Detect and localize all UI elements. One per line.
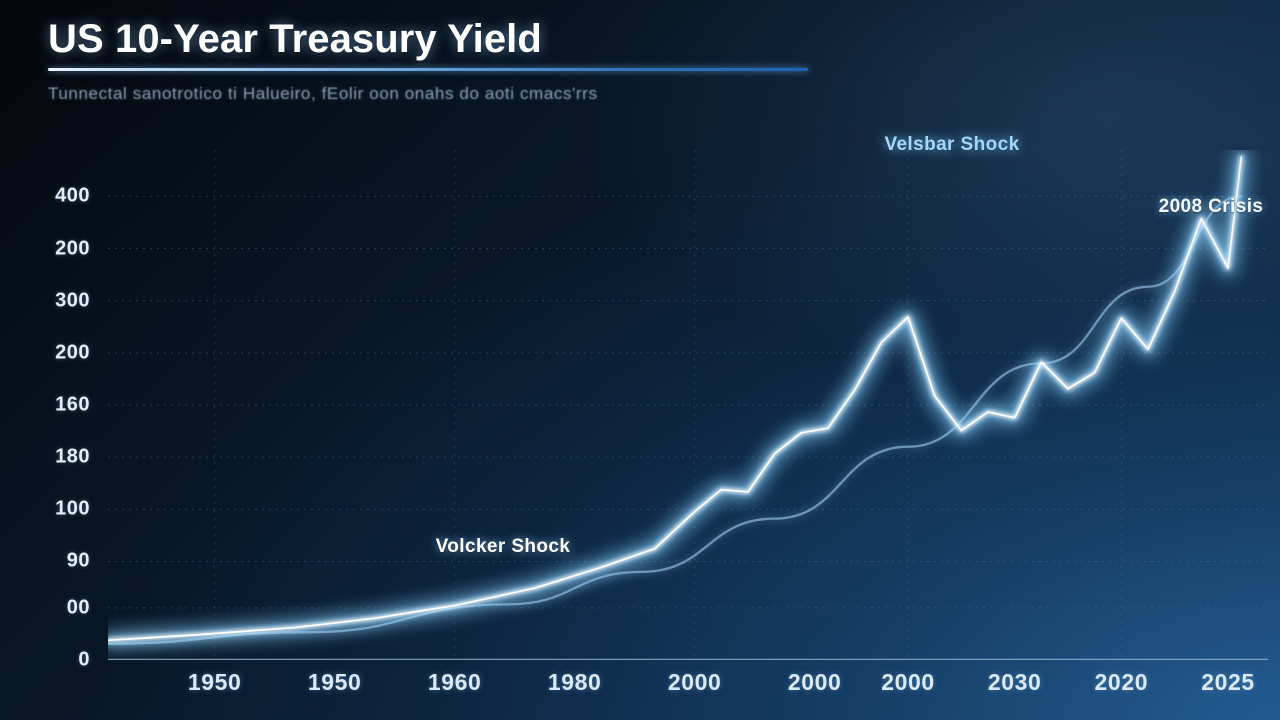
x-axis-tick-label: 1950: [308, 669, 362, 696]
chart-canvas: US 10-Year Treasury Yield Tunnectal sano…: [0, 0, 1280, 720]
chart-subtitle: Tunnectal sanotrotico ti Halueiro, fEoli…: [48, 84, 908, 104]
grid-lines: [108, 150, 1268, 660]
x-axis-tick-label: 1980: [548, 669, 602, 696]
y-axis-tick-label: 300: [0, 289, 90, 312]
y-axis-tick-label: 200: [0, 237, 90, 260]
page-title: US 10-Year Treasury Yield: [48, 18, 908, 61]
x-axis-tick-label: 2020: [1095, 669, 1149, 696]
x-axis-tick-label: 2025: [1201, 669, 1255, 696]
x-axis-tick-label: 2000: [668, 669, 722, 696]
y-axis-tick-label: 90: [0, 550, 90, 573]
x-axis-tick-label: 1960: [428, 669, 482, 696]
trend-line-series: [108, 196, 1241, 643]
chart-annotation-label: 2008 Crisis: [1159, 196, 1264, 218]
chart-header: US 10-Year Treasury Yield Tunnectal sano…: [48, 18, 908, 104]
y-axis-tick-label: 400: [0, 185, 90, 208]
y-axis-tick-label: 0: [0, 649, 90, 672]
plot-area: 40020030020016018010090000 1950195019601…: [108, 150, 1268, 660]
x-axis-tick-label: 1950: [188, 669, 242, 696]
plot-svg: [108, 150, 1268, 660]
chart-annotation-label: Volcker Shock: [436, 536, 571, 558]
y-axis-tick-label: 100: [0, 498, 90, 521]
x-axis-tick-label: 2000: [788, 669, 842, 696]
chart-annotation-label: Velsbar Shock: [884, 134, 1019, 156]
y-axis-tick-label: 160: [0, 394, 90, 417]
title-underline-divider: [48, 68, 808, 71]
y-axis-tick-label: 00: [0, 596, 90, 619]
x-axis-tick-label: 2000: [881, 669, 935, 696]
x-axis-tick-label: 2030: [988, 669, 1042, 696]
y-axis-tick-label: 200: [0, 341, 90, 364]
y-axis-tick-label: 180: [0, 446, 90, 469]
